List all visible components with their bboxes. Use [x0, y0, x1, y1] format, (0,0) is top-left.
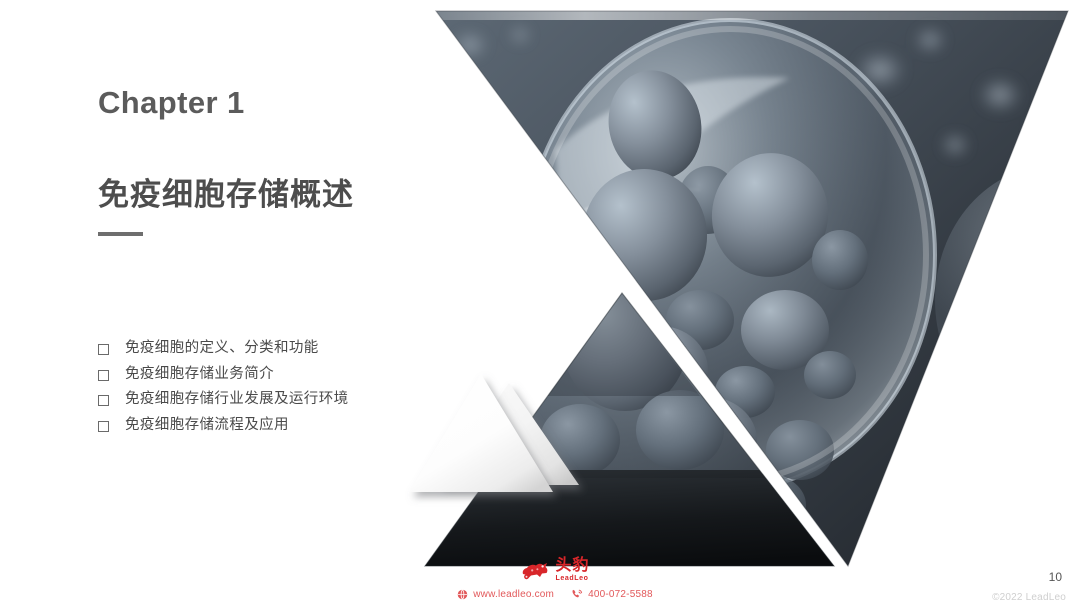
- cell-cluster: [530, 62, 1076, 535]
- page-title: 免疫细胞存储概述: [98, 120, 428, 213]
- photo-panel-main: [420, 0, 1080, 600]
- logo-english-name: LeadLeo: [555, 575, 589, 582]
- phone-icon: [571, 588, 583, 600]
- phone-number[interactable]: 400-072-5588: [588, 589, 653, 600]
- photo-panel-lower: [410, 130, 915, 600]
- title-block: Chapter 1 免疫细胞存储概述: [98, 86, 428, 236]
- logo-lockup: 头豹 LeadLeo: [430, 558, 680, 582]
- footer-branding: 头豹 LeadLeo www.leadleo.com 400-072-5588: [430, 558, 680, 600]
- leopard-logo-icon: [520, 559, 550, 582]
- contact-row: www.leadleo.com 400-072-5588: [430, 588, 680, 600]
- list-item-label: 免疫细胞存储业务简介: [125, 367, 274, 382]
- hollow-square-bullet-icon: [98, 395, 109, 406]
- copyright-notice: ©2022 LeadLeo: [992, 592, 1066, 603]
- website-link[interactable]: www.leadleo.com: [473, 589, 554, 600]
- agenda-list: 免疫细胞的定义、分类和功能 免疫细胞存储业务简介 免疫细胞存储行业发展及运行环境…: [98, 341, 438, 443]
- main-triangle-outline: [436, 11, 1068, 566]
- list-item-label: 免疫细胞存储流程及应用: [125, 418, 289, 433]
- list-item[interactable]: 免疫细胞存储业务简介: [98, 367, 438, 382]
- list-item[interactable]: 免疫细胞存储行业发展及运行环境: [98, 392, 438, 407]
- small-white-triangle-right: [439, 383, 579, 485]
- logo-chinese-name: 头豹: [555, 558, 589, 574]
- list-item[interactable]: 免疫细胞存储流程及应用: [98, 418, 438, 433]
- chapter-label: Chapter 1: [98, 86, 428, 120]
- lower-triangle-outline: [425, 293, 834, 566]
- globe-icon: [457, 589, 468, 600]
- hollow-square-bullet-icon: [98, 344, 109, 355]
- slide-canvas: Chapter 1 免疫细胞存储概述 免疫细胞的定义、分类和功能 免疫细胞存储业…: [0, 0, 1080, 611]
- hollow-square-bullet-icon: [98, 370, 109, 381]
- title-underline-rule: [98, 232, 143, 236]
- list-item-label: 免疫细胞存储行业发展及运行环境: [125, 392, 349, 407]
- page-number: 10: [1049, 570, 1062, 584]
- list-item[interactable]: 免疫细胞的定义、分类和功能: [98, 341, 438, 356]
- hollow-square-bullet-icon: [98, 421, 109, 432]
- logo-wordmark: 头豹 LeadLeo: [555, 558, 589, 582]
- list-item-label: 免疫细胞的定义、分类和功能: [125, 341, 319, 356]
